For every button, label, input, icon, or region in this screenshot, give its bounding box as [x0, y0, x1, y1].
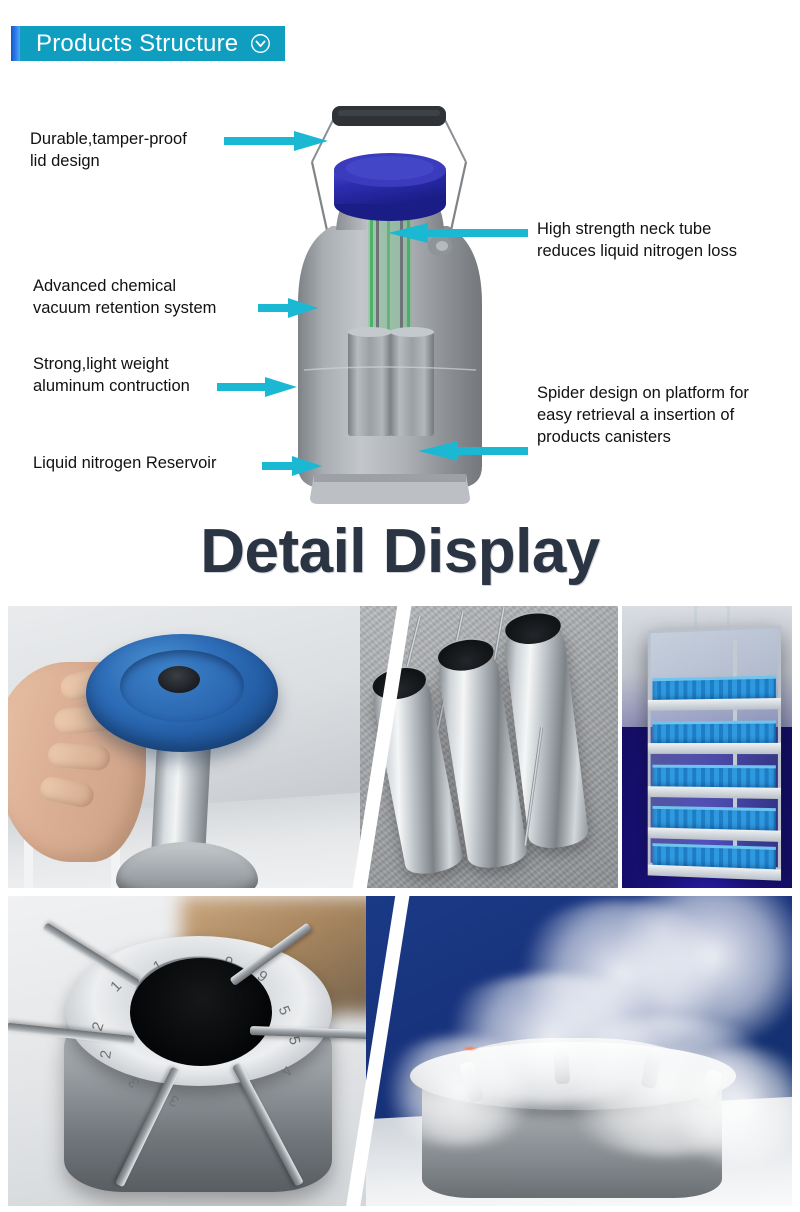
photo-row-top [8, 606, 792, 888]
chevron-down-circle-icon[interactable] [250, 33, 271, 54]
banner-accent-bar [11, 26, 20, 61]
section-title: Products Structure [36, 32, 238, 56]
rack-shelf [648, 743, 781, 754]
callout-reservoir-arrow [262, 455, 322, 477]
callout-vacuum-line1: Advanced chemical [33, 275, 216, 297]
callout-aluminum-arrow [217, 376, 297, 398]
callout-lid-line1: Durable,tamper-proof [30, 128, 187, 150]
detail-photo-grid: 1 1 9 9 2 2 5 5 3 3 4 4 [8, 606, 792, 1206]
finger [47, 742, 111, 771]
callout-neck-tube-line1: High strength neck tube [537, 218, 737, 240]
photo-spider-platform[interactable]: 1 1 9 9 2 2 5 5 3 3 4 4 [8, 896, 384, 1206]
photo-nitrogen-vapor[interactable] [366, 896, 792, 1206]
photo-cryo-box-rack[interactable] [622, 606, 792, 888]
callout-aluminum-line2: aluminum contruction [33, 375, 190, 397]
photo-divider-vertical [618, 606, 622, 888]
lid-center-hole [158, 666, 200, 693]
callout-reservoir: Liquid nitrogen Reservoir [33, 452, 216, 474]
callout-aluminum: Strong,light weight aluminum contruction [33, 353, 190, 397]
callout-lid-arrow [224, 130, 328, 152]
detail-display-title: Detail Display [0, 516, 800, 587]
photo-lid-in-hand[interactable] [8, 606, 380, 888]
section-header-banner: Products Structure [11, 26, 285, 61]
callout-spider-line3: products canisters [537, 426, 749, 448]
callout-neck-tube-arrow [388, 222, 528, 244]
callout-neck-tube-line2: reduces liquid nitrogen loss [537, 240, 737, 262]
photo-row-bottom: 1 1 9 9 2 2 5 5 3 3 4 4 [8, 896, 792, 1206]
vapor-highlight [462, 1046, 478, 1051]
callout-lid: Durable,tamper-proof lid design [30, 128, 187, 172]
callout-aluminum-line1: Strong,light weight [33, 353, 190, 375]
callout-lid-line2: lid design [30, 150, 187, 172]
products-structure-section: Products Structure [0, 0, 800, 508]
nitrogen-mist [374, 1036, 544, 1146]
callout-spider-line1: Spider design on platform for [537, 382, 749, 404]
callout-reservoir-line1: Liquid nitrogen Reservoir [33, 452, 216, 474]
callout-neck-tube: High strength neck tube reduces liquid n… [537, 218, 737, 262]
callout-spider-line2: easy retrieval a insertion of [537, 404, 749, 426]
callout-vacuum-line2: vacuum retention system [33, 297, 216, 319]
callout-vacuum: Advanced chemical vacuum retention syste… [33, 275, 216, 319]
cryo-rack [648, 625, 781, 870]
rack-shelf [648, 786, 781, 799]
rack-shelf [648, 827, 781, 842]
callout-spider: Spider design on platform for easy retri… [537, 382, 749, 448]
rack-shelf [648, 698, 781, 711]
callout-vacuum-arrow [258, 297, 318, 319]
callout-spider-arrow [418, 440, 528, 462]
